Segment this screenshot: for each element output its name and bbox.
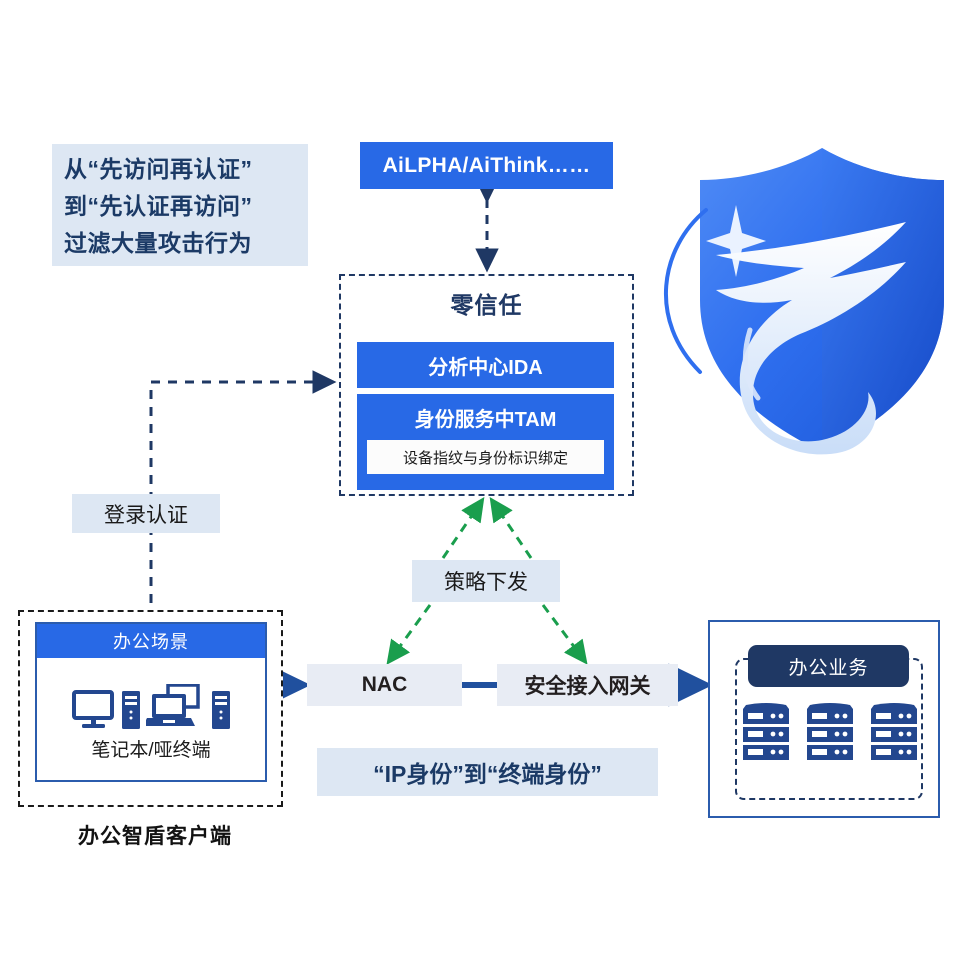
nac-box[interactable]: NAC: [307, 664, 462, 706]
policy-push-label: 策略下发: [412, 560, 560, 602]
identity-shift-label: “IP身份”到“终端身份”: [317, 748, 658, 796]
tower-icon: [211, 688, 231, 732]
connector-policy-up-right: [493, 502, 531, 558]
slogan-callout: 从“先访问再认证” 到“先认证再访问” 过滤大量攻击行为: [52, 144, 308, 266]
server-rack-icon: [740, 701, 792, 767]
device-binding-box: 设备指纹与身份标识绑定: [367, 440, 604, 474]
connector-policy-up-left: [443, 502, 481, 558]
office-scenario-card[interactable]: 办公场景: [35, 622, 267, 782]
zero-trust-title: 零信任: [339, 283, 634, 323]
server-rack-icon: [868, 701, 920, 767]
laptop-icon: [146, 684, 206, 732]
identity-service-tam-box[interactable]: 身份服务中TAM 设备指纹与身份标识绑定: [357, 394, 614, 490]
tower-icon: [121, 688, 141, 732]
identity-service-tam-label: 身份服务中TAM: [357, 394, 614, 440]
server-rack-group: [740, 700, 920, 768]
business-zone-pill[interactable]: 办公业务: [748, 645, 909, 687]
analysis-center-ida-box[interactable]: 分析中心IDA: [357, 342, 614, 388]
platform-banner[interactable]: AiLPHA/AiThink……: [360, 142, 613, 189]
slogan-line-3: 过滤大量攻击行为: [64, 225, 308, 262]
connector-policy-to-gateway: [543, 605, 584, 660]
monitor-icon: [72, 688, 116, 732]
office-device-caption: 笔记本/哑终端: [37, 736, 265, 766]
office-client-label: 办公智盾客户端: [50, 820, 260, 850]
server-rack-icon: [804, 701, 856, 767]
slogan-line-2: 到“先认证再访问”: [64, 188, 308, 225]
secure-access-gateway-box[interactable]: 安全接入网关: [497, 664, 678, 706]
office-scenario-header: 办公场景: [37, 624, 265, 658]
login-auth-label: 登录认证: [72, 494, 220, 533]
office-device-icons: [37, 658, 265, 736]
connector-policy-to-nac: [390, 605, 430, 660]
slogan-line-1: 从“先访问再认证”: [64, 151, 308, 188]
shield-logo: [666, 148, 944, 454]
diagram-canvas: 从“先访问再认证” 到“先认证再访问” 过滤大量攻击行为 AiLPHA/AiTh…: [0, 0, 958, 958]
